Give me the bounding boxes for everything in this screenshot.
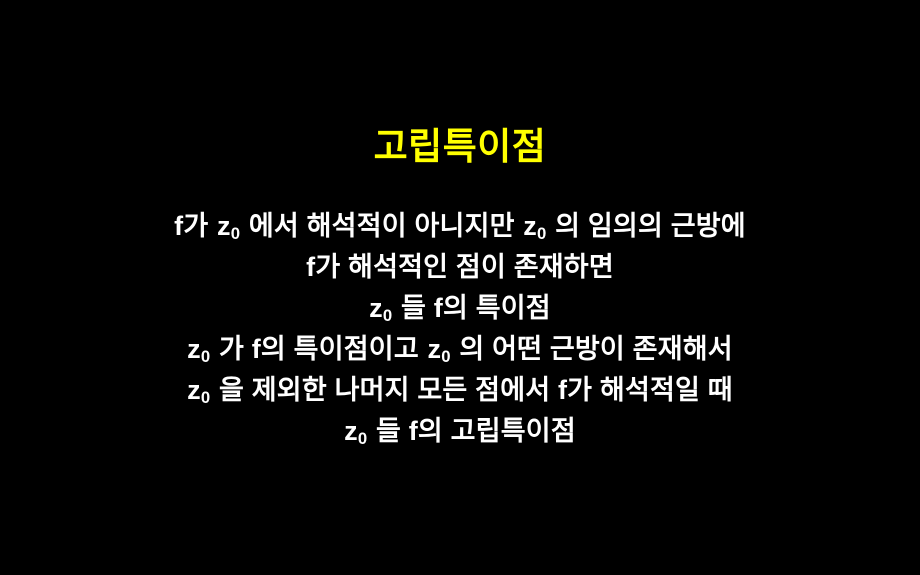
subscript-zero: 0	[383, 306, 393, 325]
line-4-text-a: 가 f의 특이점이고	[219, 334, 419, 364]
definition-line-1: f가z0에서 해석적이 아니지만z0의 임의의 근방에	[0, 206, 920, 247]
subscript-zero: 0	[358, 429, 368, 448]
variable-z0-1: z0	[217, 211, 240, 241]
line-2-text: f가 해석적인 점이 존재하면	[306, 252, 614, 282]
subscript-zero: 0	[441, 347, 451, 366]
line-1-text-c: 의 임의의 근방에	[555, 211, 746, 241]
line-5-text: 을 제외한 나머지 모든 점에서 f가 해석적일 때	[219, 375, 733, 405]
definition-line-4: z0가 f의 특이점이고z0의 어떤 근방이 존재해서	[0, 329, 920, 370]
line-1-text-b: 에서 해석적이 아니지만	[249, 211, 515, 241]
subscript-zero: 0	[201, 388, 211, 407]
slide-canvas: 고립특이점 f가z0에서 해석적이 아니지만z0의 임의의 근방에 f가 해석적…	[0, 0, 920, 575]
variable-z0-4: z0	[187, 334, 210, 364]
definition-line-3: z0들 f의 특이점	[0, 288, 920, 329]
variable-z0-6: z0	[187, 375, 210, 405]
definition-body: f가z0에서 해석적이 아니지만z0의 임의의 근방에 f가 해석적인 점이 존…	[0, 206, 920, 452]
subscript-zero: 0	[537, 224, 547, 243]
line-4-text-b: 의 어떤 근방이 존재해서	[459, 334, 733, 364]
variable-z0-2: z0	[523, 211, 546, 241]
subscript-zero: 0	[201, 347, 211, 366]
line-1-text-a: f가	[174, 211, 208, 241]
definition-line-6: z0들 f의 고립특이점	[0, 411, 920, 452]
page-title: 고립특이점	[0, 126, 920, 169]
line-6-text: 들 f의 고립특이점	[376, 416, 576, 446]
definition-line-2: f가 해석적인 점이 존재하면	[0, 247, 920, 288]
variable-z0-7: z0	[344, 416, 367, 446]
line-3-text: 들 f의 특이점	[401, 293, 551, 323]
variable-z0-3: z0	[369, 293, 392, 323]
subscript-zero: 0	[231, 224, 241, 243]
variable-z0-5: z0	[427, 334, 450, 364]
definition-line-5: z0을 제외한 나머지 모든 점에서 f가 해석적일 때	[0, 370, 920, 411]
